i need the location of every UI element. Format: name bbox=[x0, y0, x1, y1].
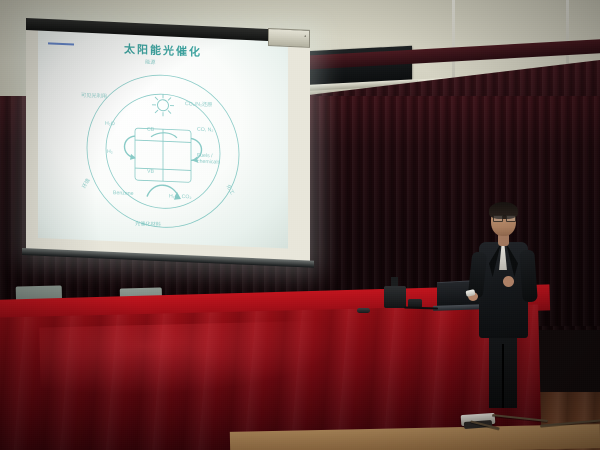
presenter-leg-seam bbox=[502, 344, 504, 408]
wireless-mouse bbox=[357, 308, 370, 313]
diagram-label-benzene: Benzene bbox=[113, 190, 133, 197]
diagram-label-valence-band: VB bbox=[147, 169, 154, 175]
diagram-label-fuels: Fuels / chemicals bbox=[197, 153, 231, 166]
photocatalysis-diagram: 能源 可见光利用 CO₂/N₂还原 H₂O H₂ CO, N₂ Fuels / … bbox=[73, 61, 253, 241]
eyeglasses-lens-right bbox=[506, 215, 516, 222]
diagram-label-mineralized: H₂O, CO₂ bbox=[169, 193, 191, 200]
slide-title: 太阳能光催化 bbox=[38, 37, 288, 63]
diagram-svg bbox=[73, 61, 253, 241]
lecture-hall-photo: 太阳能光催化 bbox=[0, 0, 600, 450]
screen-roller-endcap: ▲ bbox=[268, 28, 310, 48]
projection-screen: 太阳能光催化 bbox=[38, 26, 288, 248]
diagram-label-upper-right: CO₂/N₂还原 bbox=[185, 100, 212, 108]
diagram-label-upper-left: 可见光利用 bbox=[81, 92, 107, 100]
diagram-label-conduction-band: CB bbox=[147, 127, 154, 133]
eyeglasses-lens-left bbox=[493, 215, 503, 222]
screen-brand-mark: ▲ bbox=[304, 34, 307, 38]
diagram-label-reactant-water: H₂O bbox=[105, 121, 115, 127]
presenter-hand-right bbox=[503, 276, 514, 287]
diagram-label-bottom: 光催化材料 bbox=[135, 220, 161, 228]
diagram-label-product-co: CO, N₂ bbox=[197, 127, 213, 134]
slide-content: 太阳能光催化 bbox=[38, 26, 288, 248]
diagram-label-product-hydrogen: H₂ bbox=[107, 149, 113, 155]
av-equipment bbox=[384, 286, 406, 308]
diagram-label-top: 能源 bbox=[145, 58, 155, 65]
